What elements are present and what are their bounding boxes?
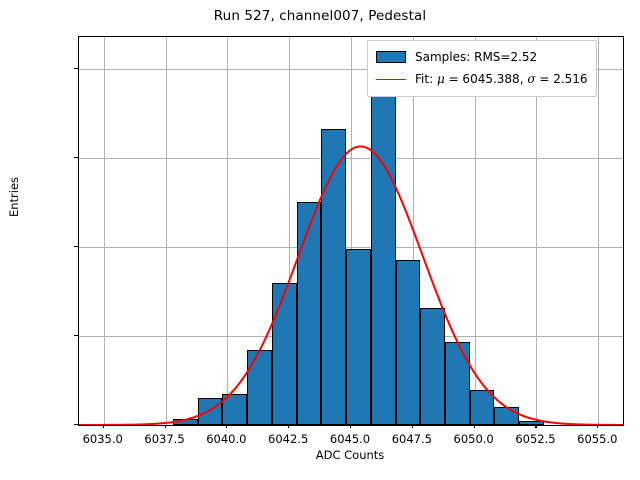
fit-path [79, 146, 623, 425]
chart-legend: Samples: RMS=2.52 Fit: μ = 6045.388, σ =… [367, 40, 597, 97]
legend-fit-sigma-value: = 2.516 [536, 72, 588, 86]
legend-swatch-line-icon [376, 79, 406, 80]
legend-fit-prefix: Fit: [415, 72, 437, 86]
legend-fit-sigma-symbol: σ [527, 72, 535, 86]
legend-fit-mu-symbol: μ [437, 72, 445, 86]
y-axis-label: Entries [7, 97, 21, 297]
legend-swatch-bar-icon [376, 51, 406, 63]
x-tick-label: 6040.0 [206, 432, 246, 446]
x-tick-label: 6055.0 [577, 432, 617, 446]
x-tick-label: 6045.0 [330, 432, 370, 446]
x-tick-label: 6037.5 [144, 432, 184, 446]
x-tick-label: 6052.5 [515, 432, 555, 446]
x-axis-label: ADC Counts [78, 448, 622, 462]
x-tick-label: 6035.0 [83, 432, 123, 446]
legend-entry-fit: Fit: μ = 6045.388, σ = 2.516 [376, 68, 588, 90]
legend-fit-mu-value: = 6045.388, [445, 72, 528, 86]
chart-title: Run 527, channel007, Pedestal [0, 8, 640, 24]
histogram-figure: Run 527, channel007, Pedestal Entries AD… [0, 0, 640, 480]
legend-label-samples: Samples: RMS=2.52 [415, 50, 537, 64]
x-tick-label: 6042.5 [268, 432, 308, 446]
legend-label-fit: Fit: μ = 6045.388, σ = 2.516 [415, 72, 588, 86]
legend-entry-samples: Samples: RMS=2.52 [376, 46, 588, 68]
x-tick-label: 6050.0 [454, 432, 494, 446]
x-tick-label: 6047.5 [392, 432, 432, 446]
